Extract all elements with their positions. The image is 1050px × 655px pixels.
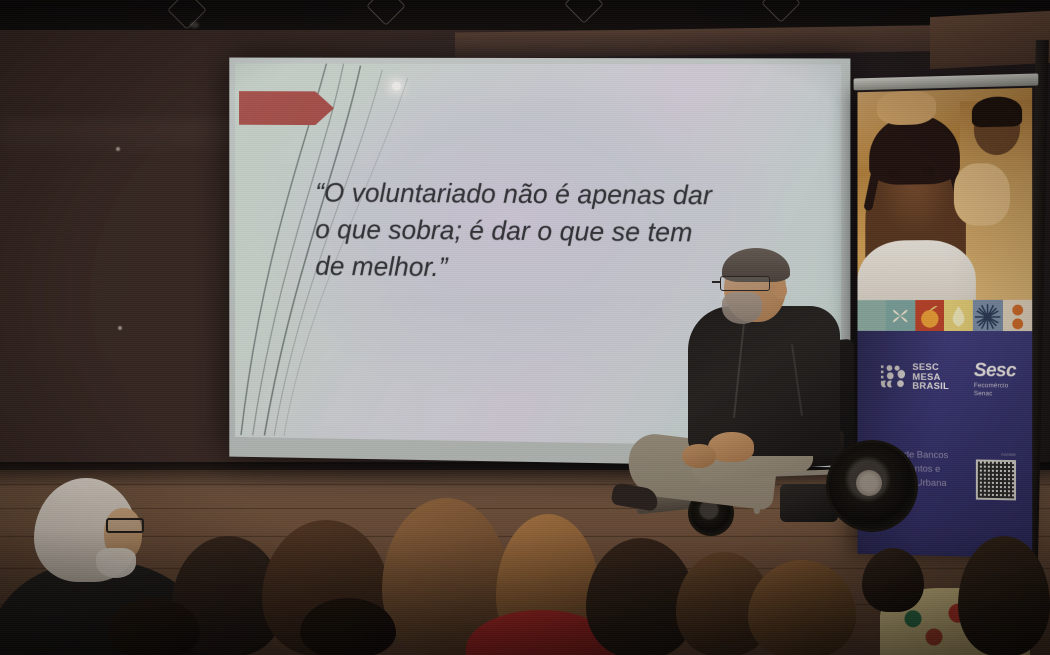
speaker-glasses-icon xyxy=(720,276,770,291)
strip-cell-drop xyxy=(944,300,973,332)
wall-soffit-right xyxy=(930,11,1050,69)
wall-light-dot xyxy=(118,326,122,330)
wall-light-dot xyxy=(116,147,120,151)
banner-photo-hand xyxy=(877,90,936,125)
speaker-ear xyxy=(774,282,787,299)
strip-cell-fruit xyxy=(915,300,944,332)
fruit-icon xyxy=(915,300,944,332)
ceiling-spot-glow xyxy=(190,22,199,28)
flower-icon xyxy=(886,300,915,332)
sunburst-icon xyxy=(973,300,1002,332)
speaker-beard xyxy=(722,292,762,324)
quote-line-1: “O voluntariado não é apenas dar xyxy=(315,175,785,215)
banner-photo-boy-hair xyxy=(972,96,1022,127)
water-drop-icon xyxy=(944,300,973,332)
strip-cell-dots xyxy=(1003,300,1033,332)
banner-photo-hand xyxy=(954,163,1010,226)
wall-sheen xyxy=(0,120,260,160)
speaker-person xyxy=(646,248,886,548)
strip-cell-sun xyxy=(973,300,1002,332)
presentation-photo-scene: “O voluntariado não é apenas dar o que s… xyxy=(0,0,1050,655)
quote-line-2: o que sobra; é dar o que se tem xyxy=(315,211,785,252)
speaker-hand xyxy=(682,444,716,468)
two-dots-icon xyxy=(1003,300,1033,332)
strip-cell-flower xyxy=(886,300,915,332)
foreground-darken xyxy=(0,528,1050,655)
speaker-torso xyxy=(688,306,840,456)
